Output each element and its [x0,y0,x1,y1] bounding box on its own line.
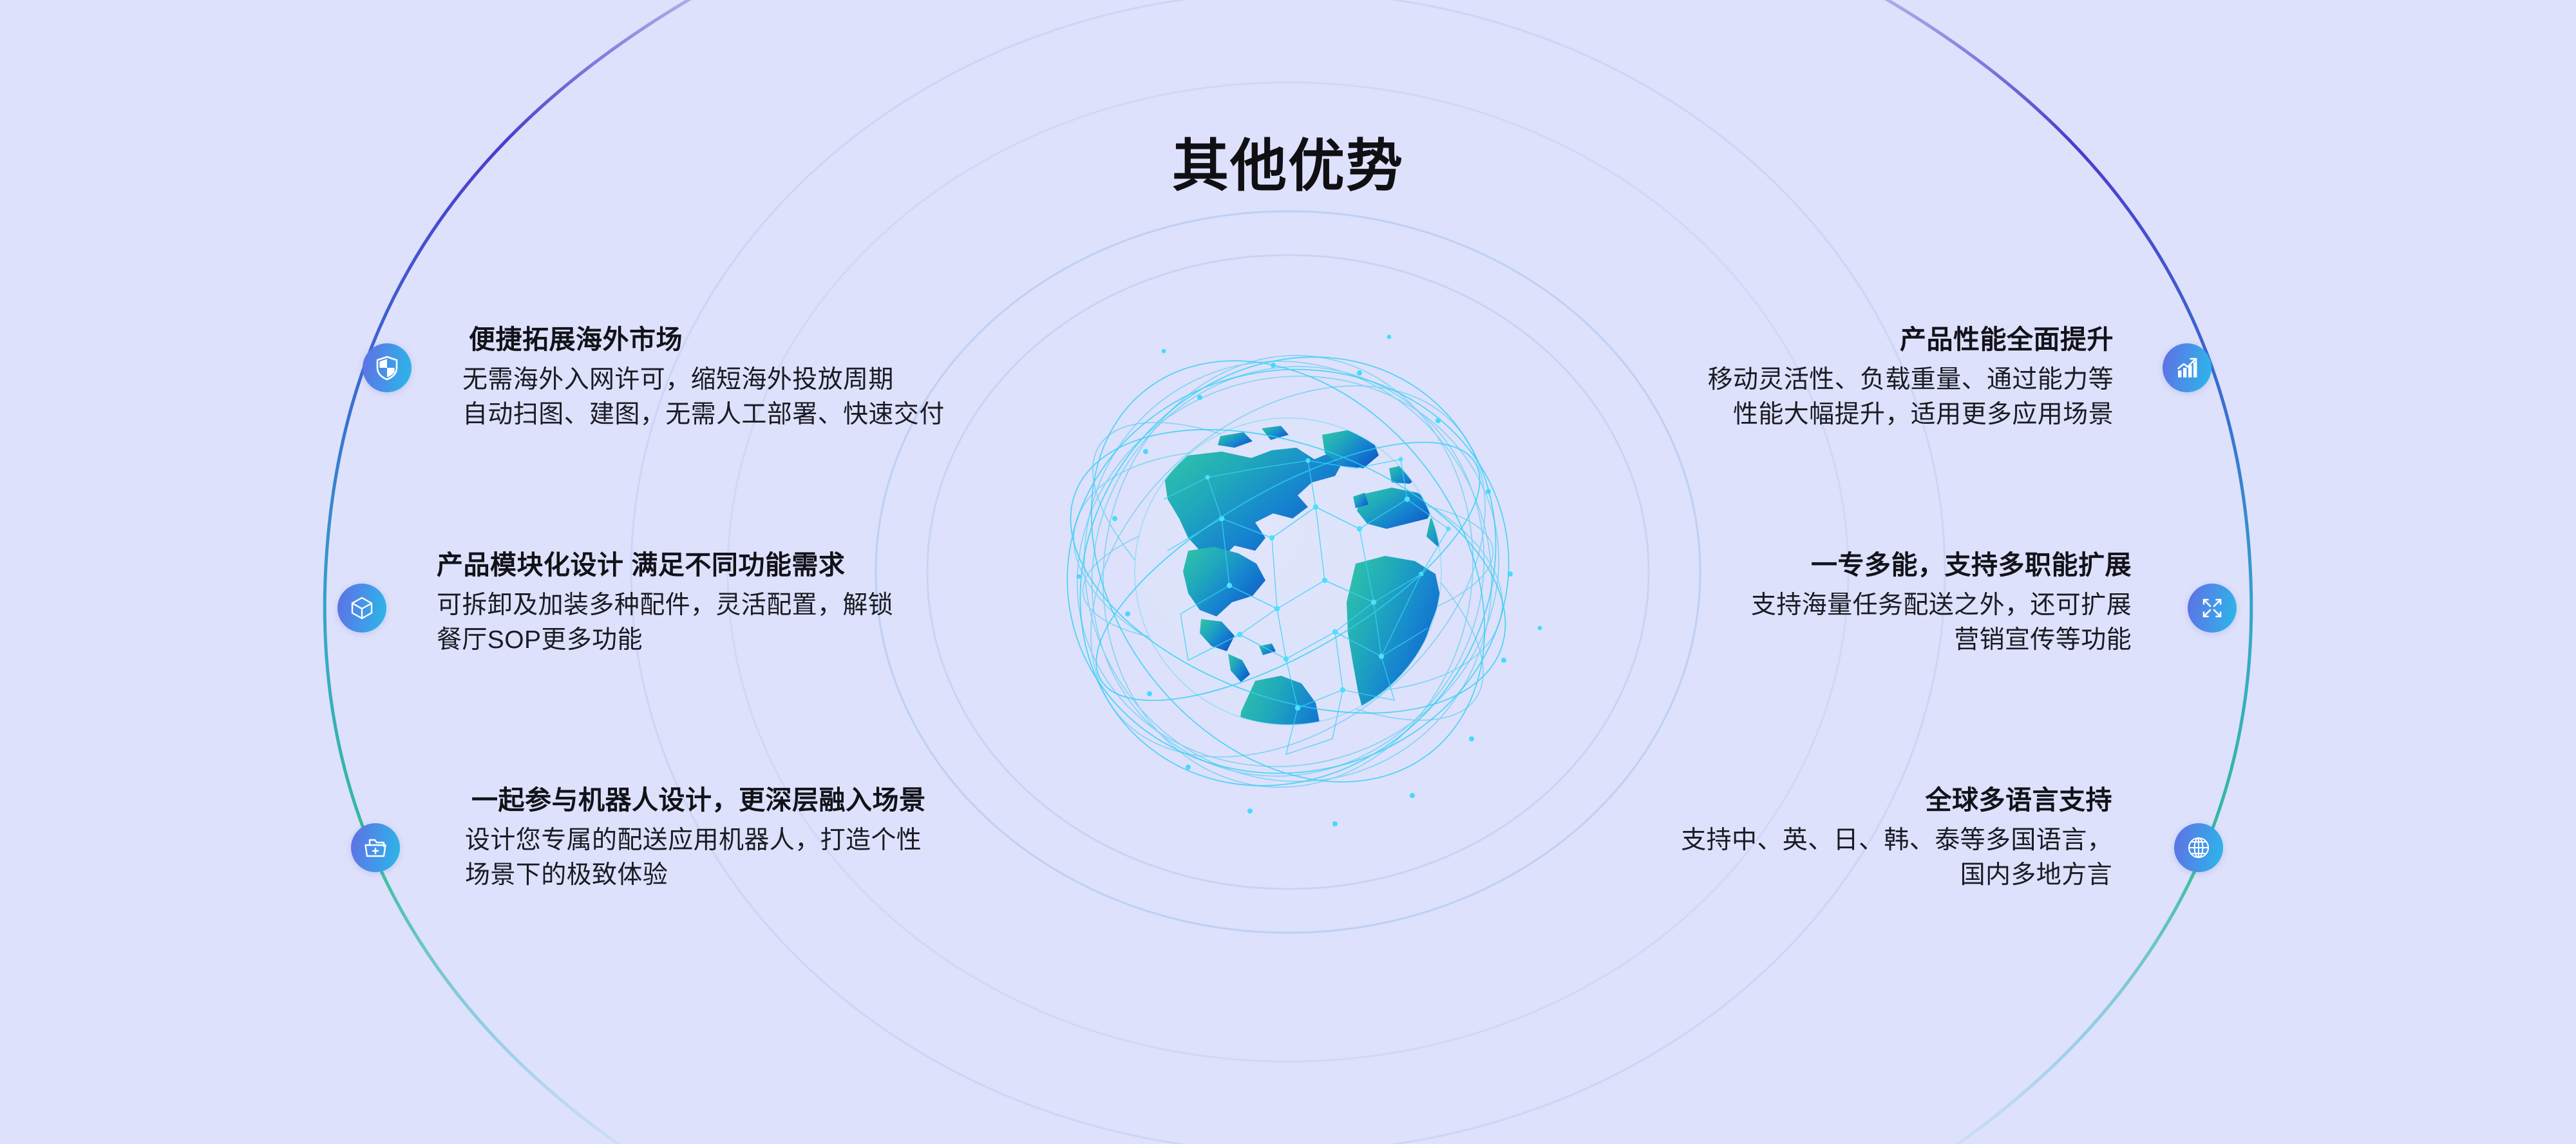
feature-line: 自动扫图、建图，无需人工部署、快速交付 [462,397,945,432]
world-globe-network [995,216,1581,928]
feature-line: 营销宣传等功能 [1751,623,2132,658]
feature-block-left-2: 产品模块化设计 满足不同功能需求 可拆卸及加装多种配件，灵活配置，解锁 餐厅SO… [437,548,893,658]
expand-arrows-icon-badge[interactable] [2188,584,2237,633]
feature-block-right-3: 全球多语言支持 支持中、英、日、韩、泰等多国语言， 国内多地方言 [1681,783,2112,893]
globe-icon [2186,835,2211,861]
feature-title: 一专多能，支持多职能扩展 [1751,548,2132,583]
page-title: 其他优势 [0,138,2576,195]
feature-line: 支持中、英、日、韩、泰等多国语言， [1681,823,2112,858]
folder-add-icon [363,835,388,861]
feature-line: 无需海外入网许可，缩短海外投放周期 [462,363,945,397]
cube-icon [349,595,375,621]
feature-title: 全球多语言支持 [1681,783,2112,818]
feature-line: 移动灵活性、负载重量、通过能力等 [1708,363,2114,397]
globe-icon-badge[interactable] [2174,823,2223,872]
feature-line: 设计您专属的配送应用机器人，打造个性 [465,823,926,858]
folder-add-icon-badge[interactable] [351,823,400,872]
growth-chart-icon-badge[interactable] [2163,343,2211,392]
feature-block-left-3: 一起参与机器人设计，更深层融入场景 设计您专属的配送应用机器人，打造个性 场景下… [465,783,926,893]
feature-line: 性能大幅提升，适用更多应用场景 [1708,397,2114,432]
feature-line: 场景下的极致体验 [465,858,926,893]
feature-title: 产品模块化设计 满足不同功能需求 [437,548,893,583]
feature-block-right-2: 一专多能，支持多职能扩展 支持海量任务配送之外，还可扩展 营销宣传等功能 [1751,548,2132,658]
expand-arrows-icon [2199,595,2225,621]
feature-line: 餐厅SOP更多功能 [437,623,893,658]
shield-icon [374,355,400,381]
infographic-stage: 其他优势 [0,0,2576,1144]
feature-title: 一起参与机器人设计，更深层融入场景 [471,783,926,818]
feature-block-left-1: 便捷拓展海外市场 无需海外入网许可，缩短海外投放周期 自动扫图、建图，无需人工部… [462,322,945,432]
feature-title: 便捷拓展海外市场 [469,322,945,357]
feature-block-right-1: 产品性能全面提升 移动灵活性、负载重量、通过能力等 性能大幅提升，适用更多应用场… [1708,322,2114,432]
growth-chart-icon [2174,355,2200,381]
feature-line: 可拆卸及加装多种配件，灵活配置，解锁 [437,588,893,623]
feature-title: 产品性能全面提升 [1708,322,2114,357]
shield-icon-badge[interactable] [363,343,412,392]
cube-icon-badge[interactable] [337,584,386,633]
feature-line: 支持海量任务配送之外，还可扩展 [1751,588,2132,623]
feature-line: 国内多地方言 [1681,858,2112,893]
